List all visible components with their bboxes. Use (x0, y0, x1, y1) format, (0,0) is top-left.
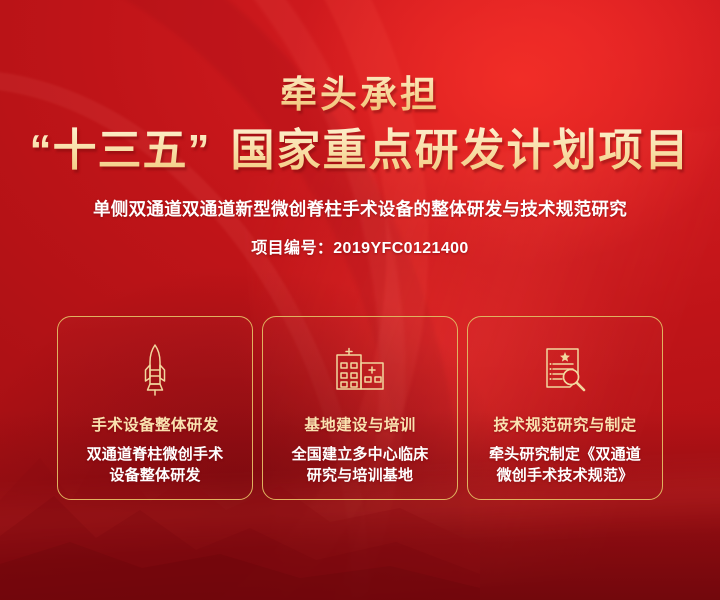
title-lead: 牵头承担 (0, 74, 720, 117)
title-main-quoted: “十三五” (30, 126, 211, 175)
feature-card-desc-line2: 研究与培训基地 (307, 467, 413, 484)
feature-card-desc-line1: 牵头研究制定《双通道 (489, 446, 641, 463)
feature-card-desc: 全国建立多中心临床研究与培训基地 (292, 444, 429, 487)
feature-card-desc: 双通道脊柱微创手术设备整体研发 (87, 444, 224, 487)
feature-card-title: 基地建设与培训 (304, 413, 415, 435)
title-main: “十三五”国家重点研发计划项目 (0, 125, 720, 177)
project-number: 项目编号：2019YFC0121400 (0, 234, 720, 258)
feature-card-desc-line1: 全国建立多中心临床 (292, 446, 429, 463)
feature-card-desc-line2: 微创手术技术规范》 (497, 467, 634, 484)
title-main-rest: 国家重点研发计划项目 (231, 126, 691, 175)
hospital-building-icon (333, 343, 387, 397)
document-magnifier-icon (540, 343, 590, 397)
feature-card-list: 手术设备整体研发 双通道脊柱微创手术设备整体研发 (57, 316, 663, 500)
feature-card[interactable]: 手术设备整体研发 双通道脊柱微创手术设备整体研发 (57, 316, 253, 500)
poster-subtitle: 单侧双通道双通道新型微创脊柱手术设备的整体研发与技术规范研究 (0, 196, 720, 221)
feature-card-desc: 牵头研究制定《双通道微创手术技术规范》 (489, 444, 641, 487)
rocket-icon (137, 343, 173, 397)
feature-card[interactable]: 基地建设与培训 全国建立多中心临床研究与培训基地 (262, 316, 458, 500)
feature-card-title: 手术设备整体研发 (91, 413, 218, 435)
feature-card-desc-line2: 设备整体研发 (109, 467, 200, 484)
feature-card-desc-line1: 双通道脊柱微创手术 (87, 446, 224, 463)
poster-canvas: 牵头承担 “十三五”国家重点研发计划项目 单侧双通道双通道新型微创脊柱手术设备的… (0, 0, 720, 600)
poster-header: 牵头承担 “十三五”国家重点研发计划项目 单侧双通道双通道新型微创脊柱手术设备的… (0, 74, 720, 258)
feature-card[interactable]: 技术规范研究与制定 牵头研究制定《双通道微创手术技术规范》 (467, 316, 663, 500)
feature-card-title: 技术规范研究与制定 (493, 413, 636, 435)
